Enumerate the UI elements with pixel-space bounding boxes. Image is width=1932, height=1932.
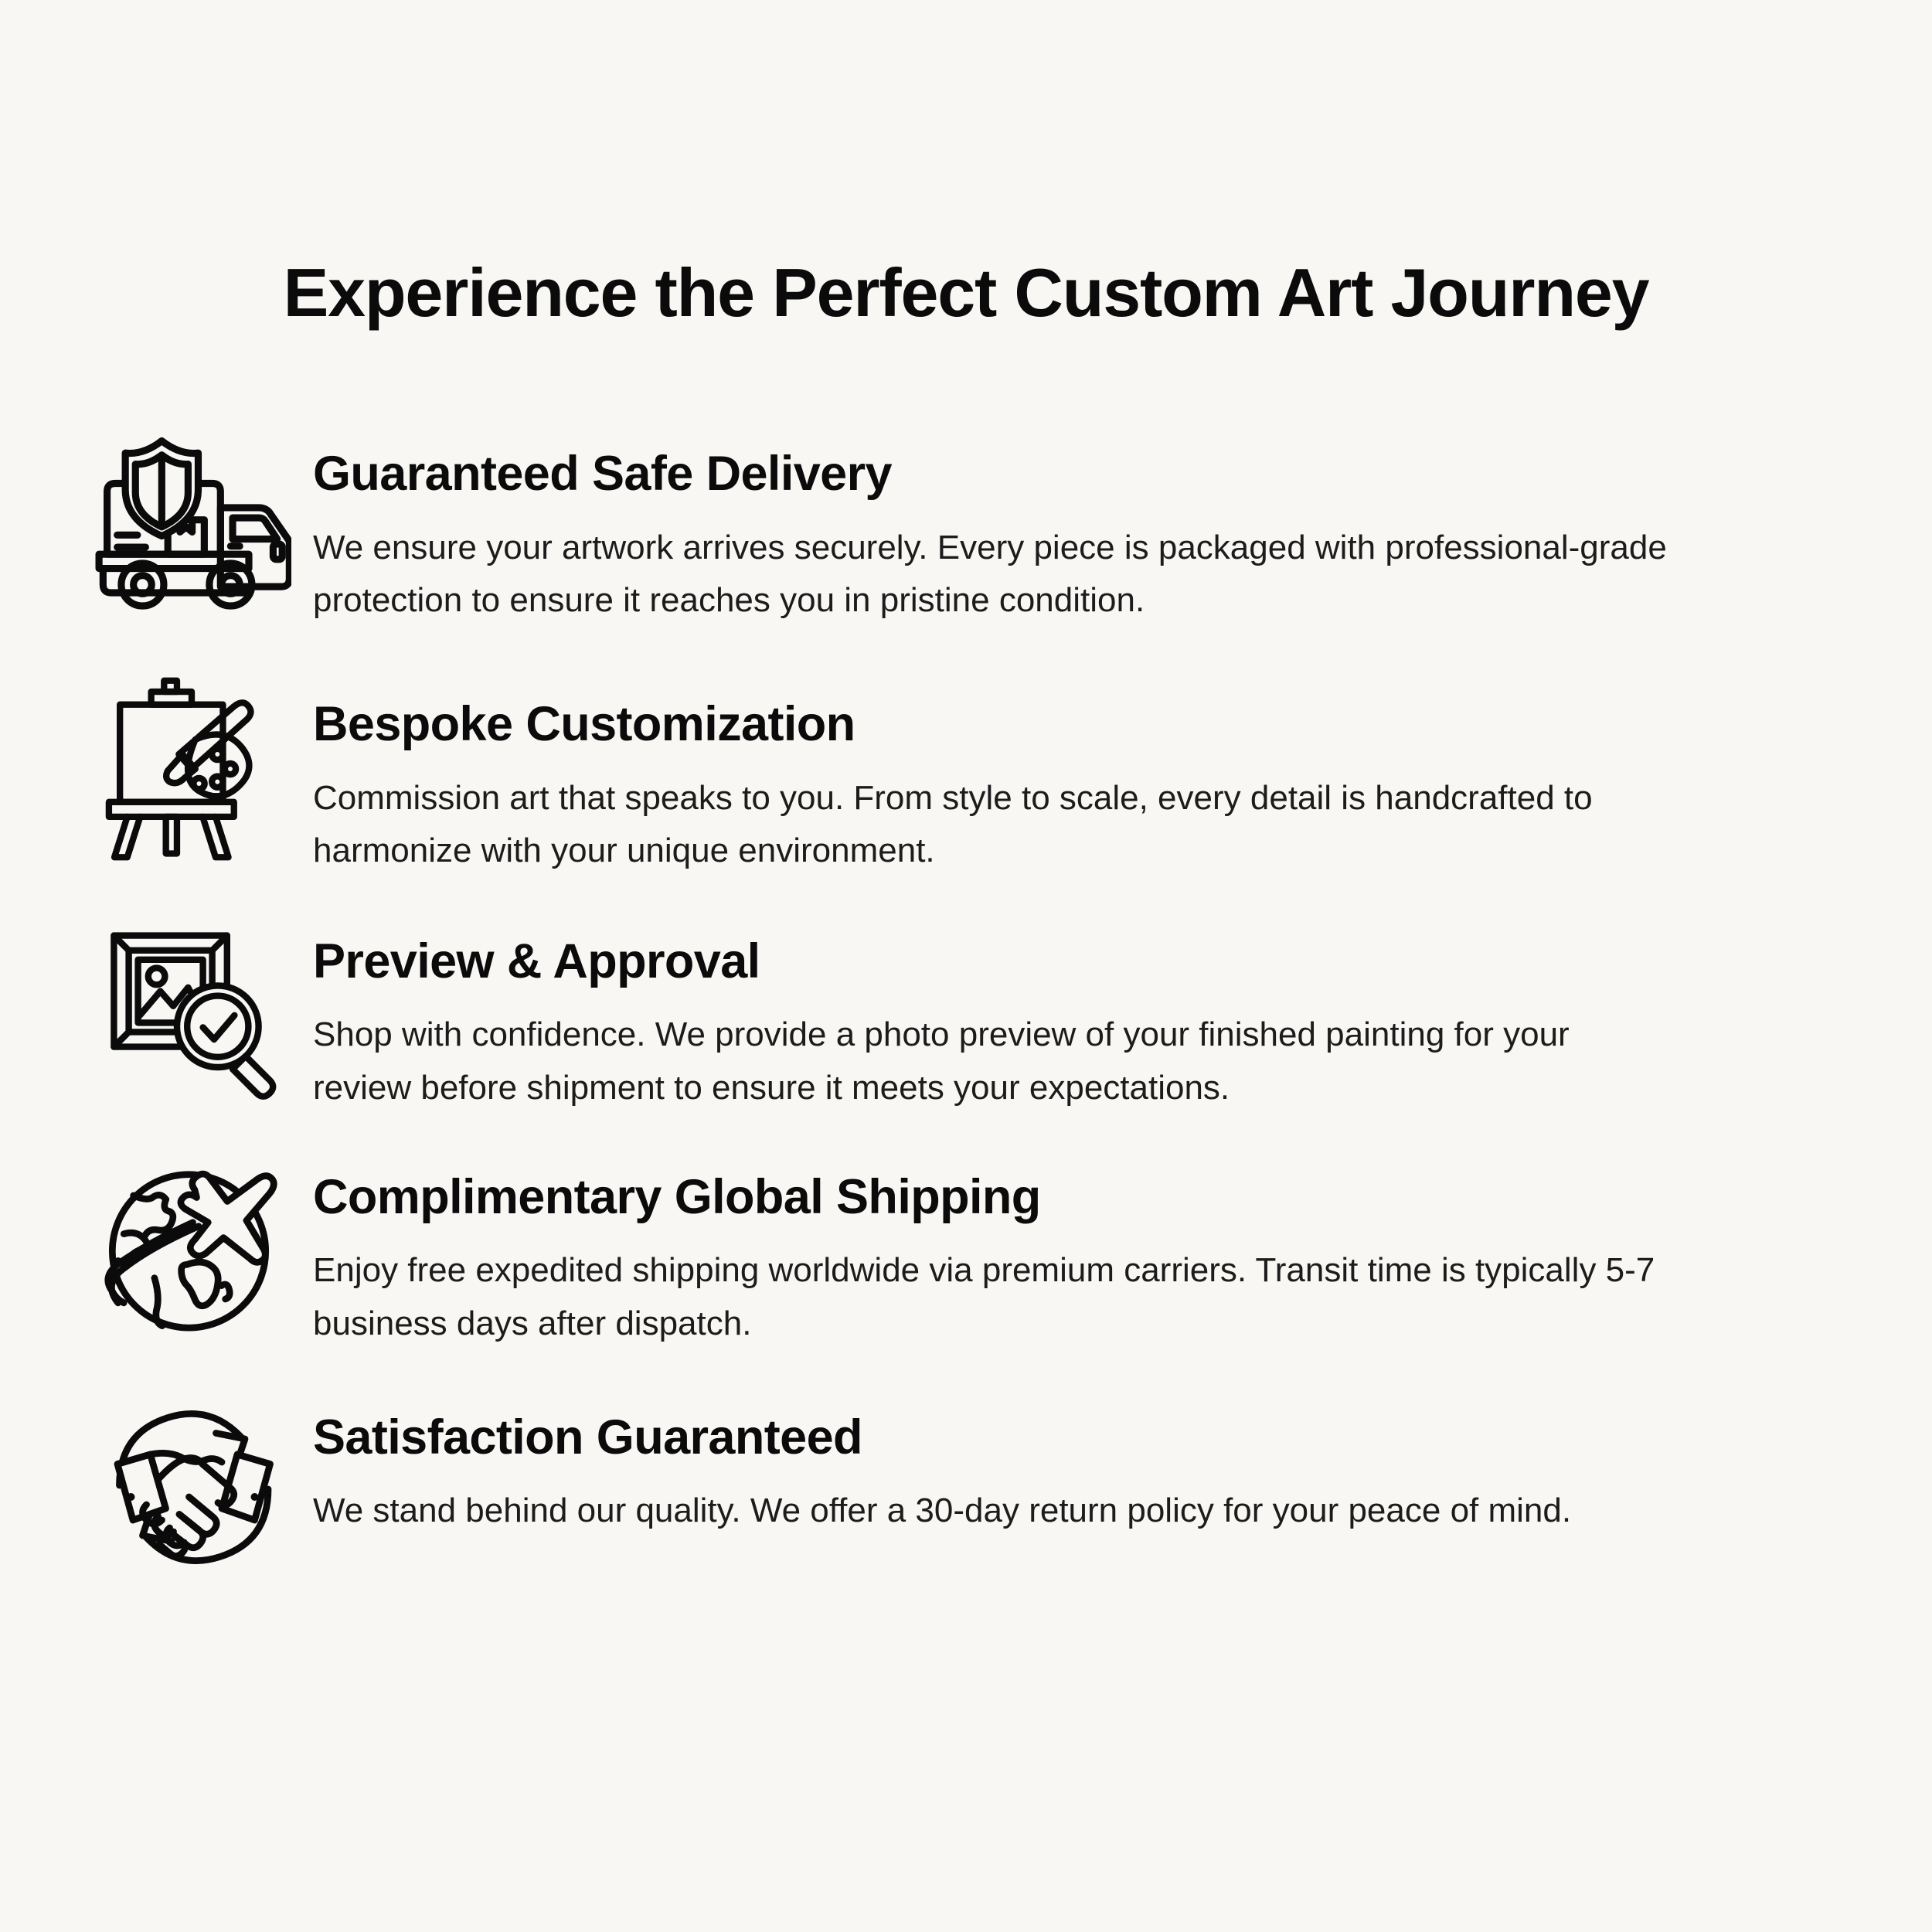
feature-description: We ensure your artwork arrives securely.… bbox=[313, 522, 1673, 627]
feature-description: Commission art that speaks to you. From … bbox=[313, 772, 1673, 877]
framed-picture-magnifier-check-icon bbox=[81, 913, 313, 1104]
feature-benefits-section: Experience the Perfect Custom Art Journe… bbox=[0, 0, 1932, 1932]
feature-heading: Preview & Approval bbox=[313, 934, 1696, 989]
easel-paint-palette-brush-icon bbox=[81, 674, 313, 861]
feature-text-preview-approval: Preview & Approval Shop with confidence.… bbox=[313, 913, 1696, 1114]
feature-description: Enjoy free expedited shipping worldwide … bbox=[313, 1244, 1673, 1349]
feature-heading: Guaranteed Safe Delivery bbox=[313, 447, 1696, 502]
feature-text-global-shipping: Complimentary Global Shipping Enjoy free… bbox=[313, 1147, 1696, 1350]
feature-list: Guaranteed Safe Delivery We ensure your … bbox=[81, 433, 1851, 1582]
handshake-return-arrows-icon bbox=[81, 1384, 313, 1582]
feature-item-preview-approval: Preview & Approval Shop with confidence.… bbox=[81, 913, 1851, 1114]
page-title: Experience the Perfect Custom Art Journe… bbox=[0, 256, 1932, 329]
feature-heading: Satisfaction Guaranteed bbox=[313, 1410, 1696, 1465]
feature-heading: Bespoke Customization bbox=[313, 697, 1696, 752]
feature-description: Shop with confidence. We provide a photo… bbox=[313, 1009, 1673, 1114]
feature-item-satisfaction-guaranteed: Satisfaction Guaranteed We stand behind … bbox=[81, 1384, 1851, 1582]
feature-item-global-shipping: Complimentary Global Shipping Enjoy free… bbox=[81, 1147, 1851, 1350]
feature-text-bespoke-customization: Bespoke Customization Commission art tha… bbox=[313, 674, 1696, 877]
feature-text-satisfaction-guaranteed: Satisfaction Guaranteed We stand behind … bbox=[313, 1384, 1696, 1538]
globe-airplane-icon bbox=[81, 1147, 313, 1343]
feature-description: We stand behind our quality. We offer a … bbox=[313, 1485, 1673, 1537]
feature-item-bespoke-customization: Bespoke Customization Commission art tha… bbox=[81, 674, 1851, 877]
feature-heading: Complimentary Global Shipping bbox=[313, 1170, 1696, 1225]
shield-delivery-truck-icon bbox=[81, 433, 313, 635]
feature-item-safe-delivery: Guaranteed Safe Delivery We ensure your … bbox=[81, 433, 1851, 635]
feature-text-safe-delivery: Guaranteed Safe Delivery We ensure your … bbox=[313, 433, 1696, 627]
